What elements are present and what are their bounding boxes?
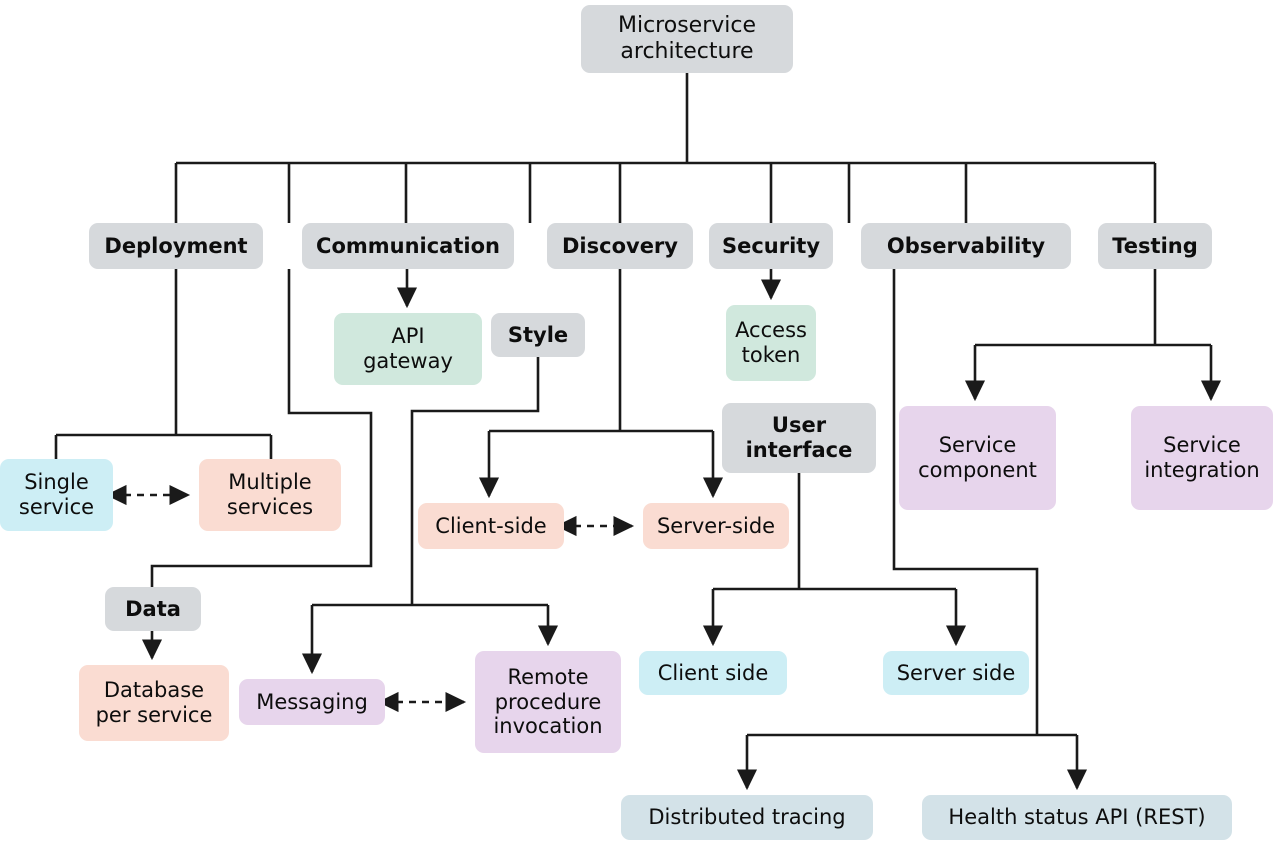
node-data[interactable]: Data: [105, 587, 201, 631]
node-multiple-services[interactable]: Multiple services: [199, 459, 341, 531]
node-remote-procedure-invocation[interactable]: Remote procedure invocation: [475, 651, 621, 753]
node-service-integration[interactable]: Service integration: [1131, 406, 1273, 510]
node-client-side-discovery[interactable]: Client-side: [418, 503, 564, 549]
node-api-gateway[interactable]: API gateway: [334, 313, 482, 385]
node-security[interactable]: Security: [709, 223, 833, 269]
node-server-side-discovery[interactable]: Server-side: [643, 503, 789, 549]
diagram-canvas: Microservice architectureDeploymentCommu…: [0, 0, 1273, 843]
node-style[interactable]: Style: [491, 313, 585, 357]
node-deployment[interactable]: Deployment: [89, 223, 263, 269]
node-testing[interactable]: Testing: [1098, 223, 1212, 269]
node-health-status-api[interactable]: Health status API (REST): [922, 795, 1232, 840]
node-observability[interactable]: Observability: [861, 223, 1071, 269]
node-server-side-ui[interactable]: Server side: [883, 651, 1029, 695]
node-database-per-service[interactable]: Database per service: [79, 665, 229, 741]
node-distributed-tracing[interactable]: Distributed tracing: [621, 795, 873, 840]
node-user-interface[interactable]: User interface: [722, 403, 876, 473]
node-access-token[interactable]: Access token: [726, 305, 816, 381]
node-single-service[interactable]: Single service: [0, 459, 113, 531]
node-discovery[interactable]: Discovery: [547, 223, 693, 269]
node-communication[interactable]: Communication: [302, 223, 514, 269]
node-messaging[interactable]: Messaging: [239, 679, 385, 725]
node-service-component[interactable]: Service component: [899, 406, 1056, 510]
edge-style-down: [412, 357, 538, 605]
node-client-side-ui[interactable]: Client side: [639, 651, 787, 695]
node-root[interactable]: Microservice architecture: [581, 5, 793, 73]
